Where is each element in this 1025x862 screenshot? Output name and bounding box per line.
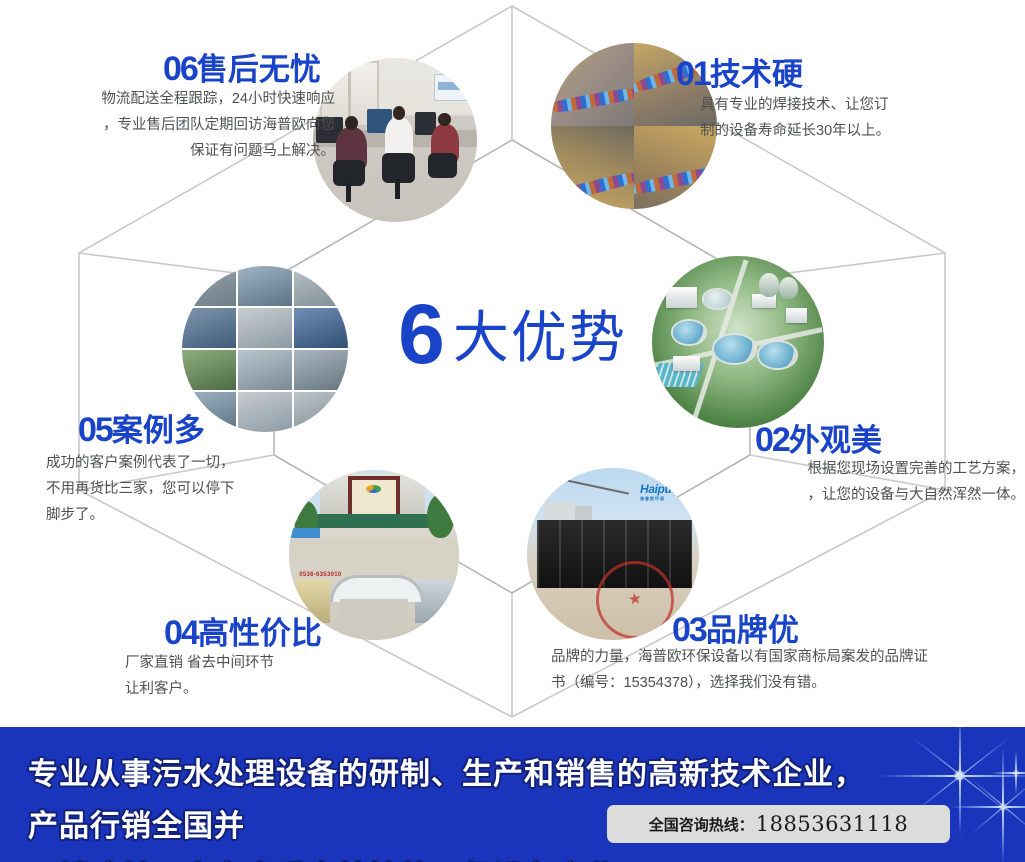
haipuou-logo: Haipuou 海普欧环保 <box>640 482 685 502</box>
desc-03: 品牌的力量，海普欧环保设备以有国家商标局案发的品牌证 书（编号：15354378… <box>551 644 1025 696</box>
heading-03-title: 品牌优 <box>706 613 799 648</box>
gate-phone-text: 0536-6353010 <box>299 572 341 578</box>
center-text: 大优势 <box>453 306 627 369</box>
heading-06-number: 06 <box>163 50 197 88</box>
center-label: 6大优势 <box>0 292 1025 376</box>
heading-01-title: 技术硬 <box>710 57 803 92</box>
heading-01: 01技术硬 <box>676 49 803 94</box>
heading-02-title: 外观美 <box>789 423 882 458</box>
hotline-box[interactable]: 全国咨询热线： 18853631118 <box>607 805 950 843</box>
photo-06-office <box>313 58 477 222</box>
heading-06-title: 售后无忧 <box>197 52 321 87</box>
heading-02-number: 02 <box>755 421 789 459</box>
desc-04: 厂家直销 省去中间环节 让利客户。 <box>125 650 425 702</box>
heading-04-number: 04 <box>164 614 198 652</box>
banner-line-2: 远销欧美，山东省重点扶持的环保设备企业。 <box>28 853 888 862</box>
logo-brand: aipuou <box>648 482 685 496</box>
heading-04: 04高性价比 <box>164 608 322 653</box>
heading-05-number: 05 <box>78 411 112 449</box>
logo-sub: 海普欧环保 <box>640 496 685 502</box>
heading-04-title: 高性价比 <box>198 616 322 651</box>
desc-06: 物流配送全程跟踪，24小时快速响应 ，专业售后团队定期回访海普欧向您 保证有问题… <box>15 86 335 164</box>
heading-02: 02外观美 <box>755 415 882 460</box>
heading-06: 06售后无忧 <box>163 44 321 89</box>
heading-05-title: 案例多 <box>112 413 205 448</box>
desc-02: 根据您现场设置完善的工艺方案， ，让您的设备与大自然浑然一体。 <box>680 456 1025 508</box>
desc-01: 具有专业的焊接技术、让您订 制的设备寿命延长30年以上。 <box>700 92 1025 144</box>
heading-05: 05案例多 <box>78 405 205 450</box>
hotline-number: 18853631118 <box>756 812 908 836</box>
center-number: 6 <box>398 287 443 381</box>
infographic-root: 06售后无忧 物流配送全程跟踪，24小时快速响应 ，专业售后团队定期回访海普欧向… <box>0 0 1025 862</box>
hotline-label: 全国咨询热线： <box>649 814 754 835</box>
heading-01-number: 01 <box>676 55 710 93</box>
